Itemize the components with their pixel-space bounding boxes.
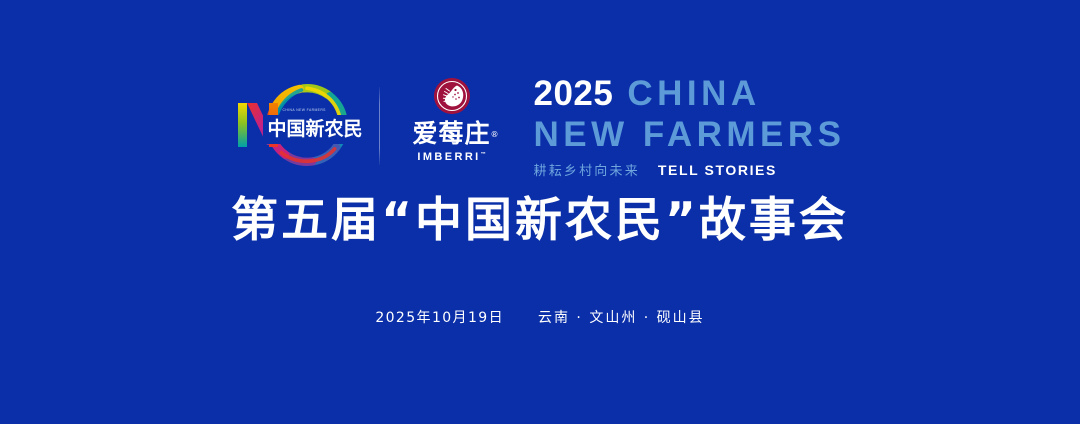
imberri-chinese-text: 爱莓庄 bbox=[412, 119, 490, 148]
wordmark-year: 2025 bbox=[534, 75, 614, 113]
wordmark-new-farmers: NEW FARMERS bbox=[534, 116, 846, 154]
imberri-english-name: IMBERRI™ bbox=[417, 151, 485, 163]
wordmark-line-3: 耕耘乡村向未来 TELL STORIES bbox=[534, 160, 777, 179]
wordmark-line-1: 2025 CHINA bbox=[534, 75, 761, 113]
cnf-name-plate: 中国新农民 bbox=[263, 115, 368, 144]
imberri-chinese-name: 爱莓庄® bbox=[412, 120, 490, 148]
event-date: 2025年10月19日 bbox=[375, 307, 504, 327]
event-wordmark: 2025 CHINA NEW FARMERS 耕耘乡村向未来 TELL STOR… bbox=[534, 73, 846, 179]
logo-divider bbox=[379, 87, 380, 165]
imberri-english-text: IMBERRI bbox=[417, 151, 480, 163]
page-title: 第五届“中国新农民”故事会 bbox=[0, 192, 1080, 250]
event-location: 云南 · 文山州 · 砚山县 bbox=[538, 307, 705, 327]
cnf-chinese-name: 中国新农民 bbox=[268, 119, 363, 140]
wordmark-tell-stories: TELL STORIES bbox=[658, 162, 777, 178]
event-meta: 2025年10月19日 云南 · 文山州 · 砚山县 bbox=[0, 307, 1080, 327]
imberri-badge-icon bbox=[434, 78, 470, 114]
trademark-mark-icon: ™ bbox=[481, 151, 486, 157]
wordmark-china: CHINA bbox=[627, 75, 760, 113]
china-new-farmers-logo: CHINA NEW FARMERS 中国新农民 bbox=[235, 77, 357, 175]
cnf-micro-english: CHINA NEW FARMERS bbox=[283, 108, 326, 112]
event-poster: CHINA NEW FARMERS 中国新农民 bbox=[0, 0, 1080, 424]
wordmark-chinese-subtitle: 耕耘乡村向未来 bbox=[534, 160, 640, 179]
imberri-logo: 爱莓庄® IMBERRI™ bbox=[404, 76, 500, 176]
logo-lockup-row: CHINA NEW FARMERS 中国新农民 bbox=[0, 72, 1080, 180]
registered-mark-icon: ® bbox=[491, 121, 500, 149]
